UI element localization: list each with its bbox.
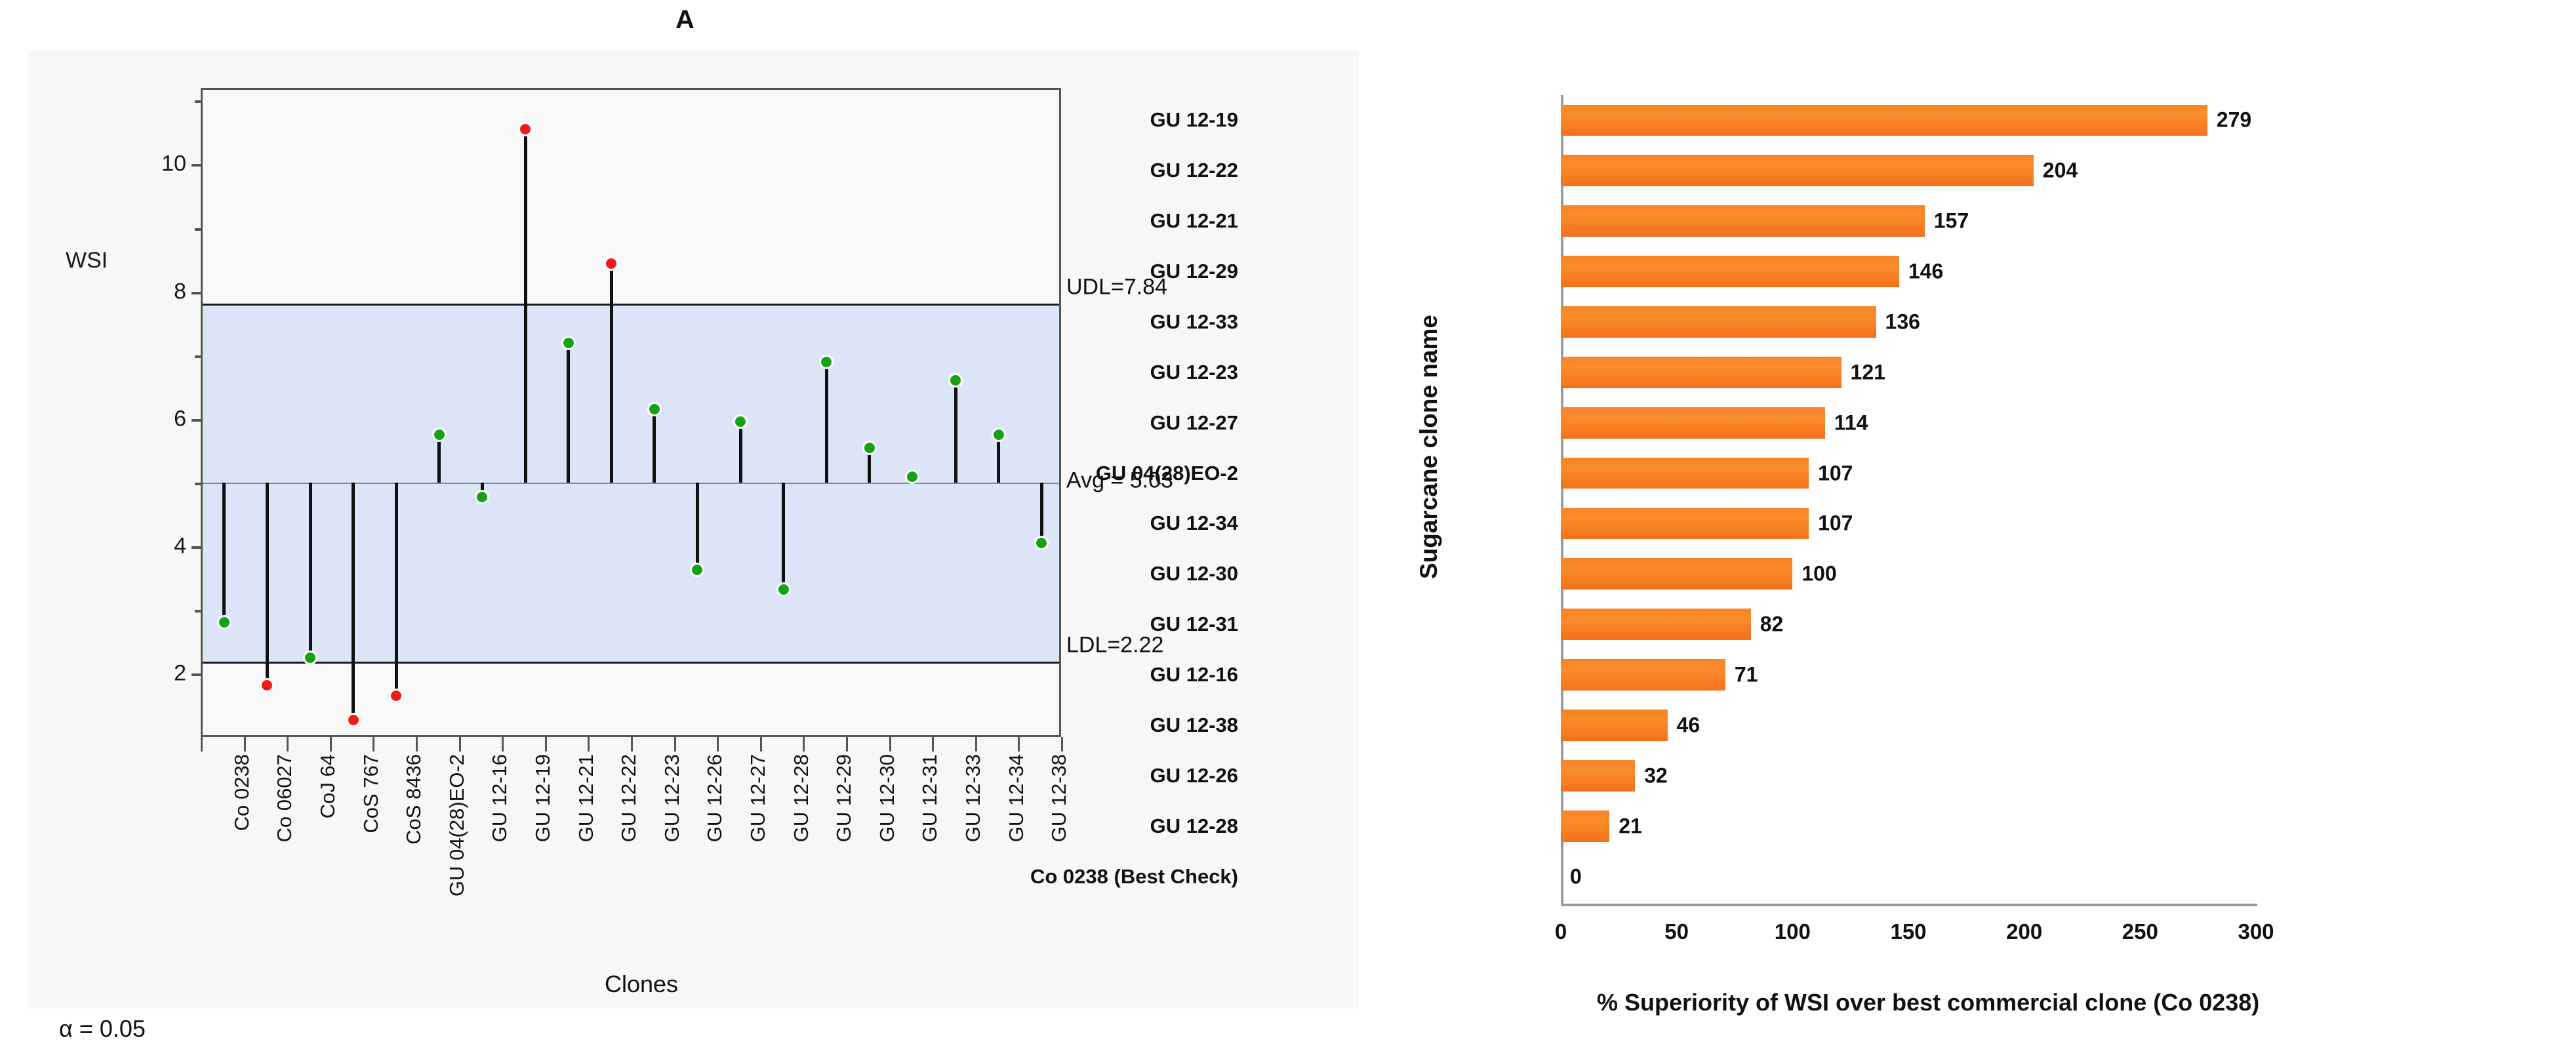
panel-a-x-tick	[846, 737, 848, 751]
panel-b-category-label: GU 12-30	[1150, 562, 1238, 586]
panel-a-x-tick-label: GU 12-26	[703, 754, 727, 842]
panel-a-x-tick	[975, 737, 977, 751]
panel-b-category-label: GU 12-28	[1150, 814, 1238, 838]
panel-a-y-tick	[191, 164, 201, 167]
panel-a-stem	[309, 483, 312, 658]
panel-a-lower-decision-limit-line	[203, 662, 1059, 664]
panel-a-x-tick	[287, 737, 289, 751]
panel-b-bar-value-label: 21	[1619, 814, 1642, 838]
panel-b-y-axis-title: Sugarcane clone name	[1415, 315, 1443, 579]
panel-a-x-tick-label: GU 12-33	[961, 754, 985, 842]
panel-a-x-tick	[717, 737, 719, 751]
panel-a-x-axis-ticks	[201, 737, 1061, 753]
panel-a-y-tick-label: 8	[174, 279, 186, 304]
panel-b-bar[interactable]	[1561, 205, 1925, 237]
panel-b-bar-row: 121GU 12-23	[1561, 357, 2256, 388]
panel-a-stem	[739, 422, 742, 483]
panel-a-average-line	[203, 483, 1059, 484]
panel-a-data-point[interactable]	[518, 122, 533, 136]
panel-b-category-label: GU 12-21	[1150, 209, 1238, 233]
panel-b-x-tick-label: 150	[1890, 919, 1926, 944]
panel-a-stem	[1040, 483, 1043, 543]
panel-a-x-tick-label: GU 12-34	[1005, 754, 1028, 842]
panel-a-x-tick	[674, 737, 676, 751]
panel-a-label: A	[675, 5, 694, 35]
panel-b-category-label: GU 12-38	[1150, 713, 1238, 737]
panel-a-data-point[interactable]	[432, 428, 447, 442]
panel-b-category-label: GU 12-27	[1150, 411, 1238, 435]
panel-a-x-axis-labels: Co 0238Co 06027CoJ 64CoS 767CoS 8436GU 0…	[201, 754, 1061, 971]
panel-a-x-tick	[201, 737, 203, 751]
panel-b-plot-area: 279GU 12-19204GU 12-22157GU 12-21146GU 1…	[1561, 95, 2256, 902]
panel-a-x-tick-label: GU 12-38	[1047, 754, 1071, 842]
panel-b-bar[interactable]	[1561, 306, 1876, 338]
panel-a-data-point[interactable]	[948, 373, 963, 388]
panel-a-x-tick-label: CoJ 64	[316, 754, 340, 818]
panel-b-bar[interactable]	[1561, 458, 1809, 489]
panel-a-x-tick-label: GU 04(28)EO-2	[445, 754, 469, 896]
panel-b-bar-row: 100GU 12-30	[1561, 558, 2256, 590]
panel-a-x-tick-label: GU 12-27	[746, 754, 770, 842]
panel-a-data-point[interactable]	[561, 336, 576, 350]
panel-b-bar-row: 114GU 12-27	[1561, 407, 2256, 439]
panel-a-x-tick-label: Co 0238	[230, 754, 254, 831]
panel-a-x-tick	[545, 737, 547, 751]
panel-a-y-axis: 246810	[106, 88, 201, 737]
panel-b-bar[interactable]	[1561, 256, 1899, 287]
panel-a-stem	[395, 483, 398, 696]
panel-a-stem	[610, 264, 613, 483]
panel-a-x-tick	[502, 737, 504, 751]
panel-a-x-axis-title: Clones	[605, 971, 678, 998]
panel-a-stem	[352, 483, 355, 720]
panel-a-data-point[interactable]	[905, 470, 919, 484]
panel-b-x-tick-label: 200	[2006, 919, 2042, 944]
panel-a-x-tick-label: CoS 8436	[402, 754, 426, 845]
panel-b-bar[interactable]	[1561, 407, 1825, 439]
panel-b-bar-row: 21GU 12-28	[1561, 811, 2256, 842]
panel-a-y-minor-tick	[195, 355, 201, 358]
panel-a-data-point[interactable]	[604, 256, 618, 271]
panel-a-data-point[interactable]	[475, 490, 489, 504]
panel-b-bar-row: 107GU 04(28)EO-2	[1561, 458, 2256, 489]
panel-b-bar-value-label: 121	[1851, 360, 1885, 384]
panel-a-stem	[524, 129, 527, 483]
panel-b-bar[interactable]	[1561, 811, 1609, 842]
panel-b-bar-value-label: 107	[1818, 461, 1853, 485]
panel-a-x-tick	[330, 737, 332, 751]
panel-a-x-tick	[932, 737, 934, 751]
panel-b-bar-value-label: 46	[1677, 713, 1701, 737]
panel-b-bar[interactable]	[1561, 105, 2207, 136]
panel-b-x-tick-label: 300	[2238, 919, 2274, 944]
panel-b-bar-value-label: 71	[1735, 663, 1758, 687]
panel-b-x-tick-label: 50	[1664, 919, 1689, 944]
panel-a-x-tick-label: GU 12-31	[918, 754, 942, 842]
panel-b-category-label: GU 12-33	[1150, 310, 1238, 334]
panel-a-x-tick-label: GU 12-28	[790, 754, 813, 842]
panel-a-y-tick-label: 2	[174, 660, 186, 686]
panel-b-x-axis-title: % Superiority of WSI over best commercia…	[1597, 989, 2259, 1016]
panel-a-data-point[interactable]	[776, 582, 791, 597]
panel-b-bar-value-label: 136	[1885, 310, 1920, 334]
panel-a-stem	[782, 483, 785, 590]
panel-b-bar[interactable]	[1561, 357, 1841, 388]
panel-a-x-tick	[1018, 737, 1020, 751]
panel-b-bar-row: 157GU 12-21	[1561, 205, 2256, 237]
panel-b-bar[interactable]	[1561, 558, 1792, 590]
panel-a-y-tick-label: 4	[174, 533, 186, 559]
panel-a-data-point[interactable]	[647, 402, 662, 416]
panel-a-stem	[266, 483, 269, 685]
panel-a-x-tick	[372, 737, 374, 751]
panel-a-x-tick-label: GU 12-16	[488, 754, 512, 842]
panel-a-y-tick	[191, 419, 201, 422]
panel-a-x-tick	[631, 737, 633, 751]
panel-a-stem	[825, 362, 828, 482]
panel-a-data-point[interactable]	[690, 563, 704, 577]
panel-b-bar-row: 46GU 12-38	[1561, 710, 2256, 741]
panel-a-ldl-annotation: LDL=2.22	[1066, 632, 1163, 658]
panel-a-stem	[653, 409, 656, 483]
panel-b-category-label: Co 0238 (Best Check)	[1030, 865, 1238, 889]
panel-b-category-label: GU 04(28)EO-2	[1096, 462, 1238, 485]
panel-a-x-tick-label: Co 06027	[273, 754, 296, 842]
panel-a-data-point[interactable]	[389, 689, 403, 703]
panel-b-bar-value-label: 204	[2043, 159, 2078, 183]
panel-a-x-tick-label: GU 12-29	[832, 754, 856, 842]
panel-a-stem	[954, 380, 957, 483]
panel-a-data-point[interactable]	[260, 678, 274, 692]
panel-b-bar-value-label: 32	[1644, 763, 1668, 788]
panel-b-category-label: GU 12-29	[1150, 260, 1238, 283]
panel-b-bar-row: 146GU 12-29	[1561, 256, 2256, 287]
panel-a-y-minor-tick	[195, 100, 201, 103]
panel-a-y-minor-tick	[195, 483, 201, 485]
panel-a-data-point[interactable]	[217, 615, 231, 630]
panel-b-category-label: GU 12-19	[1150, 108, 1238, 132]
panel-b-bar-row: 71GU 12-16	[1561, 659, 2256, 691]
panel-b-bar-value-label: 114	[1834, 410, 1868, 435]
panel-a-y-tick	[191, 546, 201, 549]
panel-b-category-label: GU 12-16	[1150, 663, 1238, 687]
panel-b-bar-row: 279GU 12-19	[1561, 105, 2256, 136]
panel-a-stem	[696, 483, 699, 570]
panel-b-bar-value-label: 107	[1818, 511, 1853, 536]
panel-a-stem	[222, 483, 226, 623]
panel-b-bar[interactable]	[1561, 659, 1725, 691]
panel-b-bar-row: 0Co 0238 (Best Check)	[1561, 861, 2256, 892]
panel-a-x-tick-label: GU 12-23	[660, 754, 684, 842]
panel-a-data-point[interactable]	[733, 414, 748, 429]
panel-b-bar-value-label: 279	[2217, 108, 2251, 132]
panel-a-alpha-note: α = 0.05	[59, 1015, 146, 1043]
panel-b-category-label: GU 12-34	[1150, 511, 1238, 535]
panel-a-data-point[interactable]	[819, 355, 834, 369]
panel-b-category-label: GU 12-23	[1150, 361, 1238, 384]
panel-a-x-tick-label: GU 12-19	[531, 754, 555, 842]
panel-b-bar-value-label: 157	[1934, 209, 1969, 233]
panel-b-bar[interactable]	[1561, 508, 1809, 540]
panel-b-bar-row: 136GU 12-33	[1561, 306, 2256, 338]
panel-a-data-point[interactable]	[303, 651, 317, 665]
panel-b-bar[interactable]	[1561, 710, 1668, 741]
panel-a-upper-decision-limit-line	[203, 304, 1059, 306]
panel-b-x-axis-line	[1561, 904, 2257, 906]
panel-b-bar[interactable]	[1561, 760, 1635, 791]
panel-b-bar-value-label: 146	[1908, 260, 1943, 284]
figure-root: A B WSI 246810 Co 0238Co 06027CoJ 64CoS …	[0, 0, 2576, 1061]
panel-a-x-tick	[760, 737, 762, 751]
panel-b-bar-row: 107GU 12-34	[1561, 508, 2256, 540]
panel-a-x-tick	[803, 737, 805, 751]
panel-a-y-tick	[191, 673, 201, 676]
panel-b-category-label: GU 12-22	[1150, 159, 1238, 182]
panel-a-data-point[interactable]	[1034, 536, 1049, 550]
panel-a-x-tick	[588, 737, 590, 751]
panel-a-x-tick-label: GU 12-21	[574, 754, 598, 842]
panel-a-y-tick	[191, 292, 201, 294]
panel-a-x-tick	[459, 737, 461, 751]
panel-b-category-label: GU 12-26	[1150, 764, 1238, 788]
panel-a-x-tick-label: CoS 767	[359, 754, 383, 833]
panel-a-data-point[interactable]	[862, 441, 877, 455]
panel-b-x-tick-label: 0	[1555, 919, 1567, 944]
panel-b-bar-value-label: 100	[1801, 562, 1836, 586]
panel-b-bar[interactable]	[1561, 155, 2034, 186]
panel-a-x-tick	[1061, 737, 1063, 751]
panel-b-bar-row: 82GU 12-31	[1561, 609, 2256, 640]
panel-a-x-tick-label: GU 12-22	[617, 754, 641, 842]
panel-a-plot-area	[201, 88, 1061, 737]
panel-b-x-tick-label: 250	[2122, 919, 2158, 944]
panel-a-x-tick	[889, 737, 891, 751]
panel-a-x-tick	[244, 737, 246, 751]
panel-a-y-tick-label: 6	[174, 406, 186, 431]
panel-a-stem	[567, 343, 570, 483]
panel-b-x-tick-label: 100	[1775, 919, 1811, 944]
panel-a-data-point[interactable]	[346, 713, 361, 727]
panel-a-y-minor-tick	[195, 610, 201, 612]
panel-b-category-label: GU 12-31	[1150, 612, 1238, 636]
panel-a-x-tick	[416, 737, 418, 751]
panel-a-data-point[interactable]	[992, 428, 1006, 442]
panel-a-x-tick-label: GU 12-30	[875, 754, 899, 842]
panel-a-y-axis-title: WSI	[66, 248, 108, 273]
panel-b-bar-value-label: 82	[1760, 612, 1784, 637]
panel-b-bar-chart: Sugarcane clone name 279GU 12-19204GU 12…	[1371, 7, 2571, 1056]
panel-a-y-minor-tick	[195, 228, 201, 231]
panel-b-bar[interactable]	[1561, 609, 1751, 640]
panel-b-bar-row: 32GU 12-26	[1561, 760, 2256, 791]
panel-b-bar-row: 204GU 12-22	[1561, 155, 2256, 186]
panel-b-bar-value-label: 0	[1570, 864, 1582, 889]
panel-a-y-tick-label: 10	[161, 151, 186, 177]
